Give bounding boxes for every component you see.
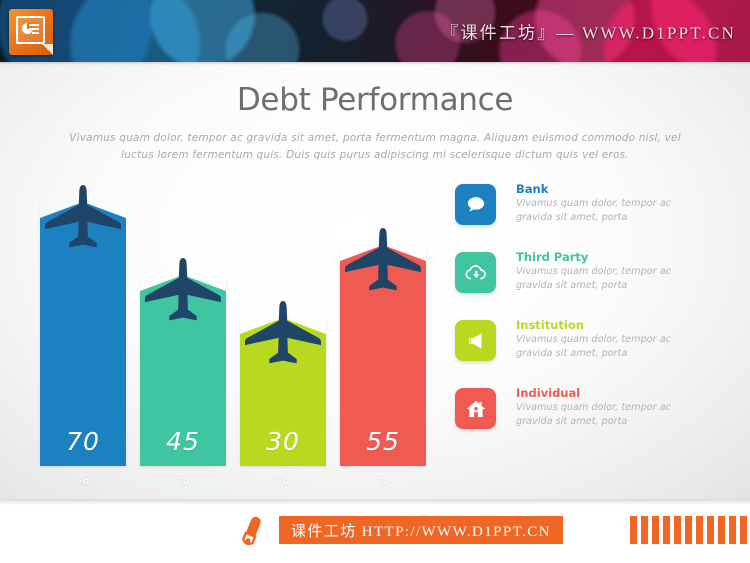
bar-column[interactable]: 70% [40,174,126,494]
airplane-marker [145,258,221,322]
legend-item-title: Individual [516,386,580,400]
legend-item-title: Institution [516,318,584,332]
bar-column[interactable]: 45% [140,174,226,494]
bar-column[interactable]: 55% [340,174,426,494]
bar-column[interactable]: 30% [240,174,326,494]
bar-body: 55 [340,245,426,466]
airplane-silhouette-icon [345,228,421,293]
footer-stripes-decoration [630,516,750,544]
bar-unit-label: % [240,472,326,488]
logo-inner-frame [16,16,45,44]
airplane-marker [245,301,321,365]
legend-item-individual[interactable]: IndividualVivamus quam dolor, tempor ac … [455,388,705,456]
page-subtitle: Vivamus quam dolor, tempor ac gravida si… [62,130,688,165]
airplane-bar-chart: 70% 45% 30% 55% [40,174,440,494]
slide-canvas: Debt Performance Vivamus quam dolor, tem… [0,62,750,499]
bar[interactable]: 55 [340,245,426,466]
airplane-marker [45,185,121,249]
bar-value-label: 55 [340,427,426,456]
airplane-silhouette-icon [145,258,221,323]
legend-item-description: Vivamus quam dolor, tempor ac gravida si… [516,333,706,361]
pencil-icon [234,513,270,549]
bar-body: 45 [140,275,226,466]
bar-unit-label: % [40,472,126,488]
bar-value-label: 30 [240,427,326,456]
bar-body: 30 [240,318,326,466]
airplane-marker [345,228,421,292]
speech-bubble-icon [455,184,496,225]
logo-text-line [29,24,39,26]
airplane-silhouette-icon [45,185,121,250]
banner-watermark-text: 『课件工坊』— WWW.D1PPT.CN [441,19,736,44]
home-icon [455,388,496,429]
legend-item-description: Vivamus quam dolor, tempor ac gravida si… [516,197,706,225]
bar-body: 70 [40,202,126,466]
powerpoint-document-icon [9,9,53,55]
legend-item-description: Vivamus quam dolor, tempor ac gravida si… [516,401,706,429]
bar-value-label: 45 [140,427,226,456]
bar-value-label: 70 [40,427,126,456]
airplane-silhouette-icon [245,301,321,366]
legend-item-third-party[interactable]: Third PartyVivamus quam dolor, tempor ac… [455,252,705,320]
page-title: Debt Performance [0,82,750,118]
bar-unit-label: % [340,472,426,488]
logo-corner-fold [42,44,53,55]
legend-list: BankVivamus quam dolor, tempor ac gravid… [455,184,705,456]
footer-bar: 课件工坊 HTTP://WWW.D1PPT.CN [0,499,750,563]
logo-text-line [29,28,39,30]
footer-url-bar: 课件工坊 HTTP://WWW.D1PPT.CN [279,516,563,544]
bar[interactable]: 45 [140,275,226,466]
logo-text-line [32,32,39,34]
bar-unit-label: % [140,472,226,488]
legend-item-title: Third Party [516,250,588,264]
legend-item-description: Vivamus quam dolor, tempor ac gravida si… [516,265,706,293]
footer-url-text: 课件工坊 HTTP://WWW.D1PPT.CN [291,520,551,541]
bar[interactable]: 70 [40,202,126,466]
logo-document-body [9,9,53,55]
legend-item-bank[interactable]: BankVivamus quam dolor, tempor ac gravid… [455,184,705,252]
top-banner: 『课件工坊』— WWW.D1PPT.CN [0,0,750,62]
speaker-icon [455,320,496,361]
cloud-download-icon [455,252,496,293]
legend-item-title: Bank [516,182,548,196]
bar[interactable]: 30 [240,318,326,466]
legend-item-institution[interactable]: InstitutionVivamus quam dolor, tempor ac… [455,320,705,388]
